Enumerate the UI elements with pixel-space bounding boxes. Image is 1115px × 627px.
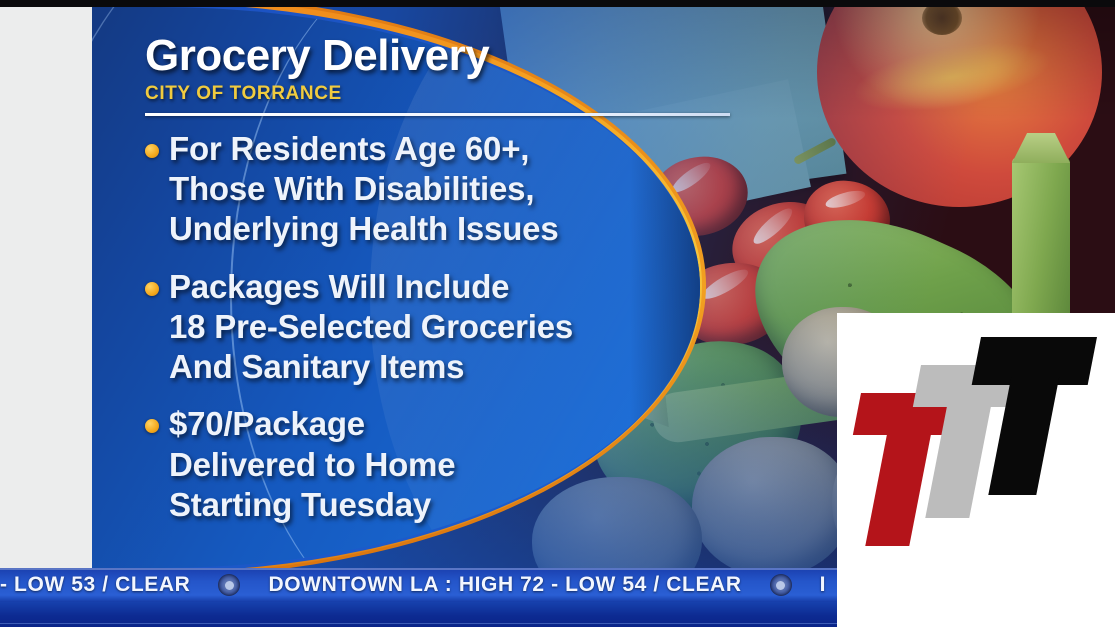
ticker-scroll-row: - LOW 53 / CLEAR DOWNTOWN LA : HIGH 72 -… [0, 568, 826, 602]
eye-circle-icon [770, 574, 792, 596]
eye-circle-icon [218, 574, 240, 596]
broadcast-screenshot: Grocery Delivery CITY OF TORRANCE For Re… [0, 0, 1115, 627]
list-item-text: $70/Package Delivered to Home Starting T… [169, 404, 455, 525]
list-item-text: Packages Will Include 18 Pre-Selected Gr… [169, 267, 573, 388]
list-item-text: For Residents Age 60+, Those With Disabi… [169, 129, 558, 250]
page-title: Grocery Delivery [145, 34, 785, 79]
page-subtitle: CITY OF TORRANCE [145, 83, 785, 105]
logo-overlay-box [837, 313, 1115, 627]
title-divider [145, 113, 730, 116]
triple-t-logo [855, 333, 1097, 533]
ticker-item: I [820, 573, 826, 597]
list-item: Packages Will Include 18 Pre-Selected Gr… [145, 267, 785, 388]
list-item: For Residents Age 60+, Those With Disabi… [145, 129, 785, 250]
list-item: $70/Package Delivered to Home Starting T… [145, 404, 785, 525]
bullet-dot-icon [145, 419, 159, 433]
bullet-list: For Residents Age 60+, Those With Disabi… [145, 129, 785, 525]
ticker-item: DOWNTOWN LA : HIGH 72 - LOW 54 / CLEAR [268, 573, 741, 597]
bullet-dot-icon [145, 144, 159, 158]
bullet-dot-icon [145, 282, 159, 296]
left-offair-margin [0, 0, 92, 568]
ticker-item: - LOW 53 / CLEAR [0, 573, 190, 597]
top-letterbox-strip [0, 0, 1115, 7]
lower-third-text-block: Grocery Delivery CITY OF TORRANCE For Re… [145, 34, 785, 542]
